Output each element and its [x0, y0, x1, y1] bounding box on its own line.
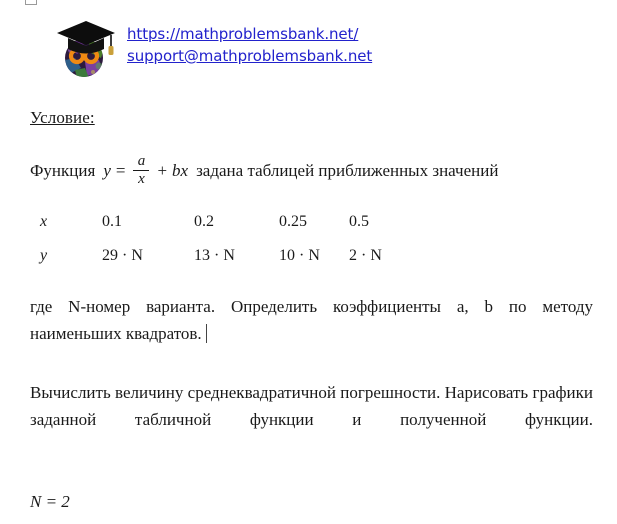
header-links: https://mathproblemsbank.net/ support@ma…	[127, 14, 372, 67]
paragraph-where: где N-номер варианта. Определить коэффиц…	[30, 293, 593, 347]
table-row-label-y: y	[40, 239, 102, 273]
paragraph-compute: Вычислить величину среднеквадратичной по…	[30, 379, 593, 460]
table-cell-x-1: 0.2	[194, 205, 279, 239]
formula-tail-text: задана таблицей приближенных значений	[196, 161, 498, 181]
table-row-x: x 0.1 0.2 0.25 0.5	[40, 205, 409, 239]
support-email-link[interactable]: support@mathproblemsbank.net	[127, 45, 372, 67]
fraction-denominator: x	[135, 171, 148, 187]
document-header: https://mathproblemsbank.net/ support@ma…	[55, 14, 372, 80]
formula-intro-text: Функция	[30, 161, 95, 181]
table-cell-y-1: 13 · N	[194, 239, 279, 273]
page-margin-marker	[25, 0, 37, 5]
variant-number: N = 2	[30, 492, 595, 512]
website-link[interactable]: https://mathproblemsbank.net/	[127, 23, 372, 45]
table-row-y: y 29 · N 13 · N 10 · N 2 · N	[40, 239, 409, 273]
paragraph-where-text: где N-номер варианта. Определить коэффиц…	[30, 297, 593, 343]
table-cell-x-0: 0.1	[102, 205, 194, 239]
section-title: Условие:	[30, 108, 595, 128]
formula-equals: =	[116, 161, 126, 181]
table-cell-y-3: 2 · N	[349, 239, 409, 273]
formula-statement-line: Функция y = a x + bx задана таблицей при…	[30, 154, 595, 187]
values-table: x 0.1 0.2 0.25 0.5 y 29 · N 13 · N 10 · …	[40, 205, 409, 273]
formula-plus: +	[157, 161, 167, 181]
table-cell-x-2: 0.25	[279, 205, 349, 239]
document-page: https://mathproblemsbank.net/ support@ma…	[0, 0, 617, 524]
table-row-label-x: x	[40, 205, 102, 239]
table-cell-x-3: 0.5	[349, 205, 409, 239]
table-cell-y-2: 10 · N	[279, 239, 349, 273]
table-cell-y-0: 29 · N	[102, 239, 194, 273]
text-caret	[206, 324, 207, 343]
formula-fraction: a x	[133, 154, 149, 187]
formula-term-bx: bx	[172, 161, 188, 181]
mathproblemsbank-logo	[55, 14, 117, 80]
formula-lhs: y	[103, 161, 111, 181]
document-body: Условие: Функция y = a x + bx задана таб…	[30, 108, 595, 512]
fraction-numerator: a	[135, 154, 149, 170]
